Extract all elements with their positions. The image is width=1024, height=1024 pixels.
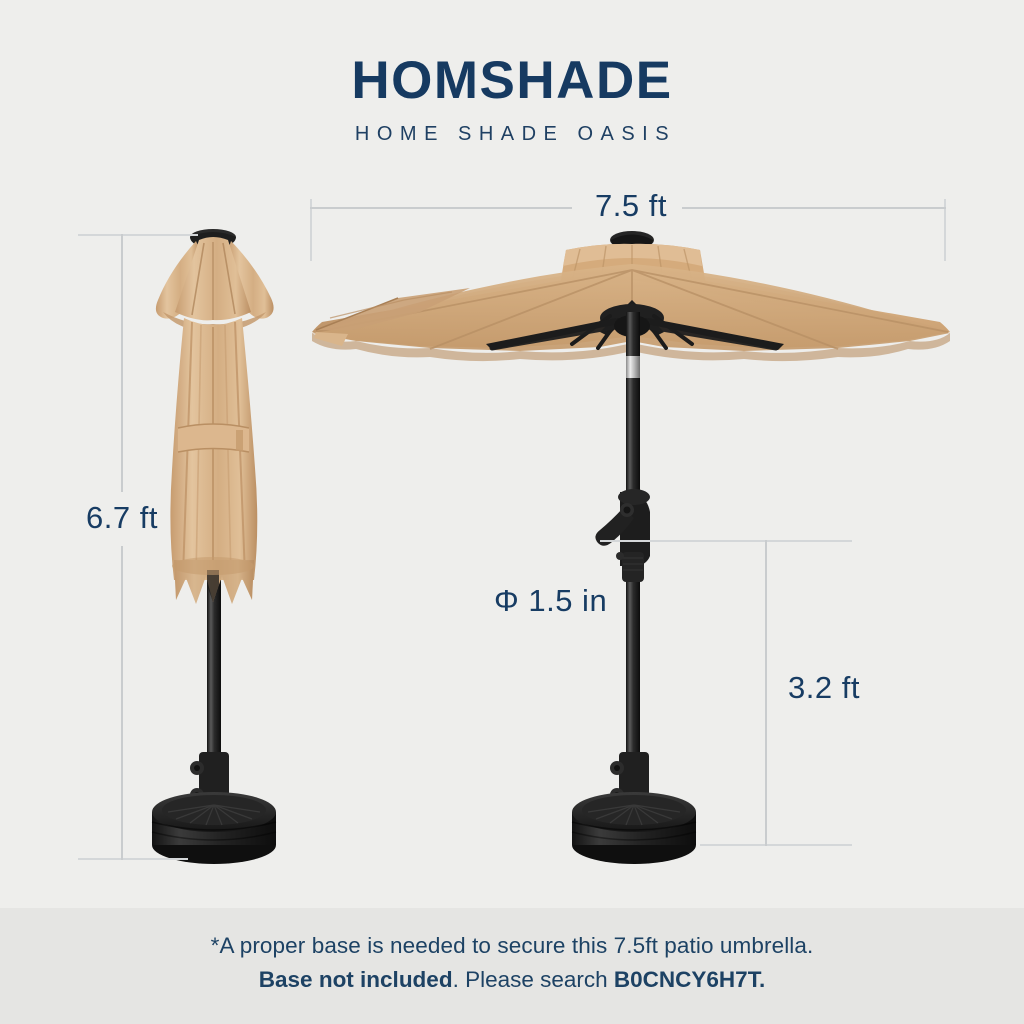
- height-line-lower: [121, 546, 123, 860]
- open-umbrella-graphic: [312, 231, 950, 864]
- height-ext-bottom: [78, 858, 188, 860]
- footer-bold-asin: B0CNCY6H7T.: [614, 967, 765, 992]
- diameter-leader-line: [600, 540, 766, 542]
- dimension-label-pole-diameter: Φ 1.5 in: [494, 585, 624, 616]
- dimension-label-crank-height: 3.2 ft: [788, 672, 898, 703]
- footer-line-1: *A proper base is needed to secure this …: [0, 933, 1024, 959]
- footer-mid-text: . Please search: [453, 967, 614, 992]
- footer-line-2: Base not included. Please search B0CNCY6…: [0, 967, 1024, 993]
- crank-height-line: [765, 540, 767, 846]
- width-line-left: [310, 207, 572, 209]
- height-ext-top: [78, 234, 198, 236]
- brand-logo-text: HOMSHADE: [0, 54, 1024, 107]
- height-line-upper: [121, 234, 123, 492]
- width-line-right: [682, 207, 946, 209]
- dimension-label-canopy-width: 7.5 ft: [586, 190, 676, 221]
- crank-ext-bottom: [700, 844, 852, 846]
- dimension-label-total-height: 6.7 ft: [70, 502, 174, 533]
- footer-note-band: *A proper base is needed to secure this …: [0, 908, 1024, 1024]
- crank-ext-top: [756, 540, 852, 542]
- brand-header: HOMSHADE HOME SHADE OASIS: [0, 54, 1024, 144]
- brand-tagline: HOME SHADE OASIS: [0, 124, 1024, 144]
- product-infographic: HOMSHADE HOME SHADE OASIS: [0, 0, 1024, 1024]
- closed-umbrella-graphic: [152, 229, 276, 864]
- footer-bold-base-not-included: Base not included: [259, 967, 453, 992]
